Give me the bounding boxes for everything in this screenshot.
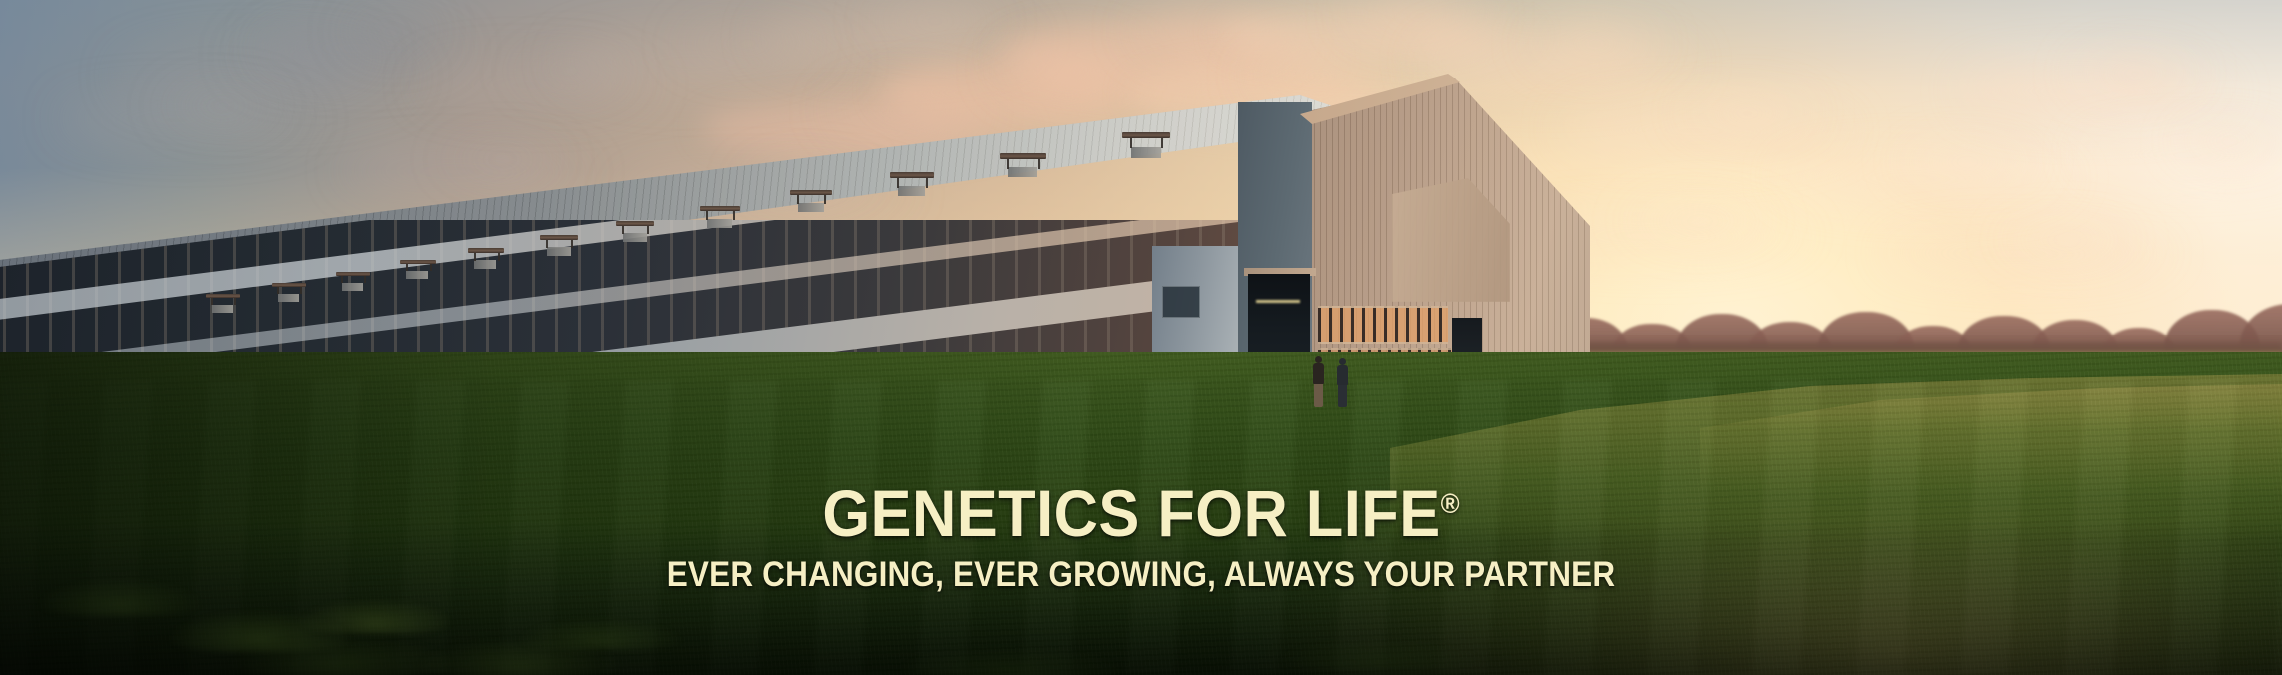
vent-leg: [1161, 138, 1163, 148]
vent-body: [547, 247, 571, 256]
vent-leg: [430, 264, 432, 271]
banner-text-overlay: GENETICS FOR LIFE® EVER CHANGING, EVER G…: [0, 470, 2282, 594]
roof-vent-icon: [616, 221, 654, 243]
person-legs: [1314, 384, 1323, 407]
roof-vent-icon: [206, 294, 240, 315]
vent-body: [212, 305, 233, 313]
registered-trademark-icon: ®: [1441, 488, 1460, 519]
cloud-puff: [1885, 137, 2050, 181]
vent-leg: [546, 240, 548, 248]
page-subtitle: EVER CHANGING, EVER GROWING, ALWAYS YOUR…: [114, 556, 2168, 594]
cloud-puff: [2164, 119, 2282, 158]
roof-vent-icon: [468, 248, 504, 270]
vent-body: [406, 271, 428, 279]
cloud-puff: [1665, 86, 1830, 134]
vent-leg: [622, 226, 624, 234]
roof-vent-icon: [336, 272, 370, 293]
vent-leg: [364, 276, 366, 283]
vent-leg: [277, 287, 279, 294]
vent-body: [623, 233, 647, 242]
vent-body: [342, 283, 363, 291]
person-head: [1339, 358, 1346, 365]
vent-body: [898, 186, 925, 196]
person-torso: [1337, 365, 1348, 385]
vent-leg: [824, 195, 826, 204]
cloud-puff: [334, 7, 450, 51]
roof-vent-icon: [272, 283, 306, 304]
vent-leg: [897, 178, 899, 188]
vent-leg: [647, 226, 649, 234]
person-head: [1315, 356, 1322, 363]
vent-leg: [406, 264, 408, 271]
roof-vent-icon: [700, 206, 740, 229]
vent-body: [798, 203, 824, 212]
vent-leg: [571, 240, 573, 248]
vent-leg: [706, 211, 708, 220]
roof-vent-icon: [540, 235, 578, 257]
vent-leg: [234, 298, 236, 305]
vent-leg: [341, 276, 343, 283]
vent-leg: [797, 195, 799, 204]
cloud-puff: [2058, 46, 2212, 95]
roof-vent-icon: [400, 260, 436, 281]
roof-vent-icon: [790, 190, 832, 213]
roof-vent-icon: [1000, 153, 1046, 177]
hero-banner: GENETICS FOR LIFE® EVER CHANGING, EVER G…: [0, 0, 2282, 675]
farmer-in-dark-clothes: [1335, 358, 1349, 406]
vent-body: [707, 219, 732, 228]
barn-control-panel: [1162, 286, 1200, 318]
cloud-puff: [1518, 15, 1672, 66]
vent-leg: [300, 287, 302, 294]
vent-leg: [498, 253, 500, 261]
vent-body: [1008, 167, 1037, 177]
person-torso: [1313, 363, 1324, 384]
vent-leg: [1038, 159, 1040, 169]
vent-body: [474, 260, 496, 269]
vent-body: [1131, 147, 1161, 158]
vent-leg: [474, 253, 476, 261]
vent-body: [278, 294, 299, 302]
barn-louver-upper: [1318, 306, 1448, 344]
vent-leg: [211, 298, 213, 305]
farmer-in-coveralls: [1311, 356, 1325, 406]
vent-leg: [1007, 159, 1009, 169]
person-legs: [1338, 385, 1347, 407]
headline-text: GENETICS FOR LIFE: [822, 476, 1440, 550]
vent-leg: [926, 178, 928, 188]
vent-leg: [1130, 138, 1132, 148]
cloud-puff: [1612, 198, 1788, 239]
vent-leg: [733, 211, 735, 220]
roof-vent-icon: [890, 172, 934, 196]
page-title: GENETICS FOR LIFE®: [80, 470, 2202, 547]
roof-vent-icon: [1122, 132, 1170, 157]
barn-interior-light: [1256, 300, 1300, 303]
